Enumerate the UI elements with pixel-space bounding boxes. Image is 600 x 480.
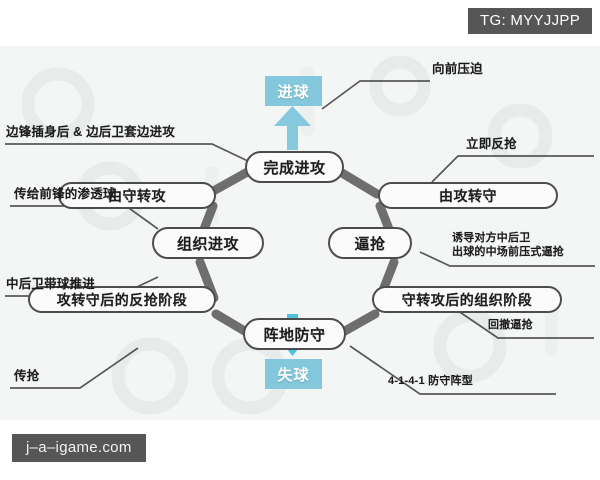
cycle-node-def-to-att-label: 由守转攻: [108, 186, 166, 206]
annotation-pass-press: 传抢: [14, 369, 39, 385]
cycle-node-finish-attack: 完成进攻: [245, 151, 344, 183]
outcome-goal-label: 进球: [277, 81, 309, 102]
cycle-node-press: 逼抢: [328, 227, 412, 259]
tactical-cycle-diagram: 进球 完成进攻 由守转攻 由攻转守 组织进攻 逼抢 攻转守后的反抢阶段 守转攻后…: [0, 46, 600, 420]
outcome-conceded-label: 失球: [277, 364, 309, 385]
cycle-node-build-up-label: 组织进攻: [177, 233, 239, 254]
telegram-watermark: TG: MYYJJPP: [468, 8, 592, 34]
annotation-through-ball: 传给前锋的渗透球: [14, 187, 116, 203]
phase-node-buildup: 守转攻后的组织阶段: [372, 286, 562, 313]
annotation-defensive-shape: 4-1-4-1 防守阵型: [388, 375, 473, 389]
outcome-conceded: 失球: [265, 359, 322, 389]
annotation-winger-overlap: 边锋插身后 & 边后卫套边进攻: [6, 125, 175, 141]
annotation-drop-press: 回撤逼抢: [488, 319, 533, 333]
annotation-cb-carry: 中后卫带球推进: [6, 277, 95, 293]
site-watermark: j–a–igame.com: [12, 434, 146, 462]
cycle-node-finish-attack-label: 完成进攻: [263, 157, 325, 178]
cycle-node-positional-defence-label: 阵地防守: [263, 324, 325, 345]
annotation-forward-press: 向前压迫: [432, 62, 483, 78]
cycle-node-build-up: 组织进攻: [152, 227, 264, 259]
cycle-node-att-to-def-label: 由攻转守: [439, 186, 497, 206]
diagram-nodes: 进球 完成进攻 由守转攻 由攻转守 组织进攻 逼抢 攻转守后的反抢阶段 守转攻后…: [0, 46, 600, 420]
cycle-node-positional-defence: 阵地防守: [243, 318, 346, 350]
cycle-node-att-to-def: 由攻转守: [378, 182, 558, 209]
outcome-goal: 进球: [265, 76, 322, 106]
phase-node-buildup-label: 守转攻后的组织阶段: [402, 290, 533, 310]
annotation-midfield-press-trap: 诱导对方中后卫 出球的中场前压式逼抢: [452, 232, 597, 260]
annotation-immediate-counterpress: 立即反抢: [466, 137, 517, 153]
cycle-node-press-label: 逼抢: [354, 233, 385, 254]
